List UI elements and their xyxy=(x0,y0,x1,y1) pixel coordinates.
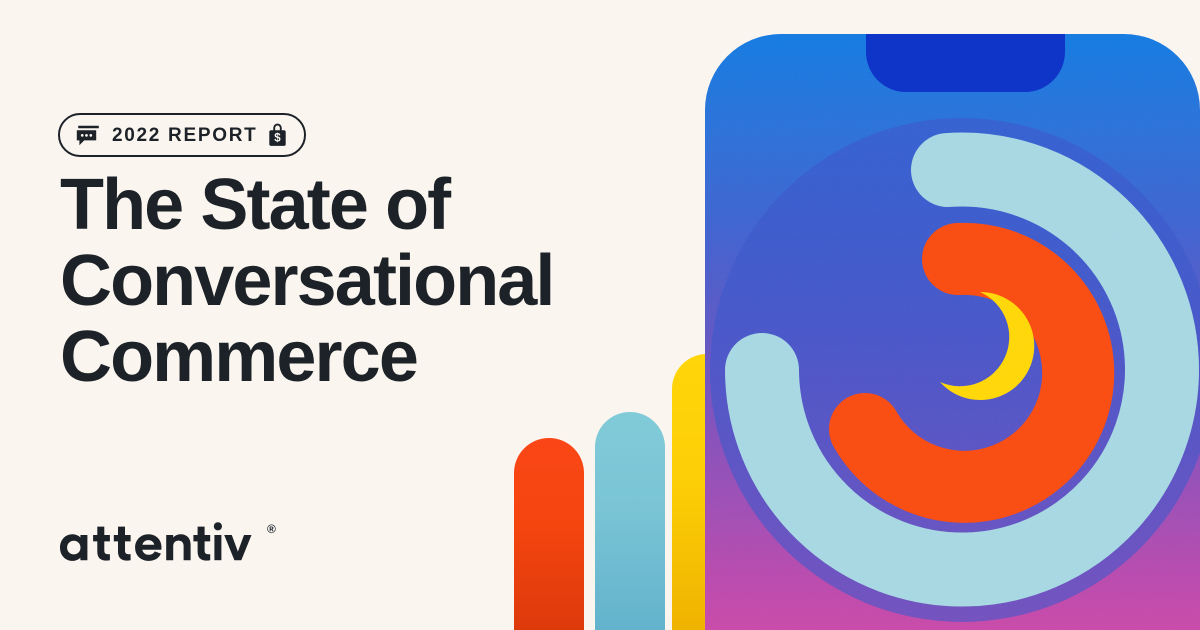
shopping-bag-dollar-icon: $ xyxy=(268,123,287,147)
chat-bubble-icon xyxy=(76,125,101,146)
badge-label: 2022 REPORT xyxy=(112,126,257,145)
phone-spiral-artwork xyxy=(705,34,1200,630)
phone-notch xyxy=(866,34,1065,92)
page-title: The State of Conversational Commerce xyxy=(60,168,720,396)
registered-trademark: ® xyxy=(267,522,276,536)
bar-orange xyxy=(514,438,584,630)
headline-line-2: Conversational xyxy=(60,244,720,320)
report-badge: 2022 REPORT $ xyxy=(58,113,306,157)
phone-graphic xyxy=(705,34,1200,630)
headline-line-1: The State of xyxy=(60,168,720,244)
poster-canvas: 2022 REPORT $ The State of Conversationa… xyxy=(0,0,1200,630)
headline-line-3: Commerce xyxy=(60,320,720,396)
svg-text:$: $ xyxy=(275,132,282,144)
bar-blue xyxy=(595,412,665,630)
attentive-wordmark xyxy=(60,519,265,565)
attentive-logo: ® xyxy=(60,519,276,565)
